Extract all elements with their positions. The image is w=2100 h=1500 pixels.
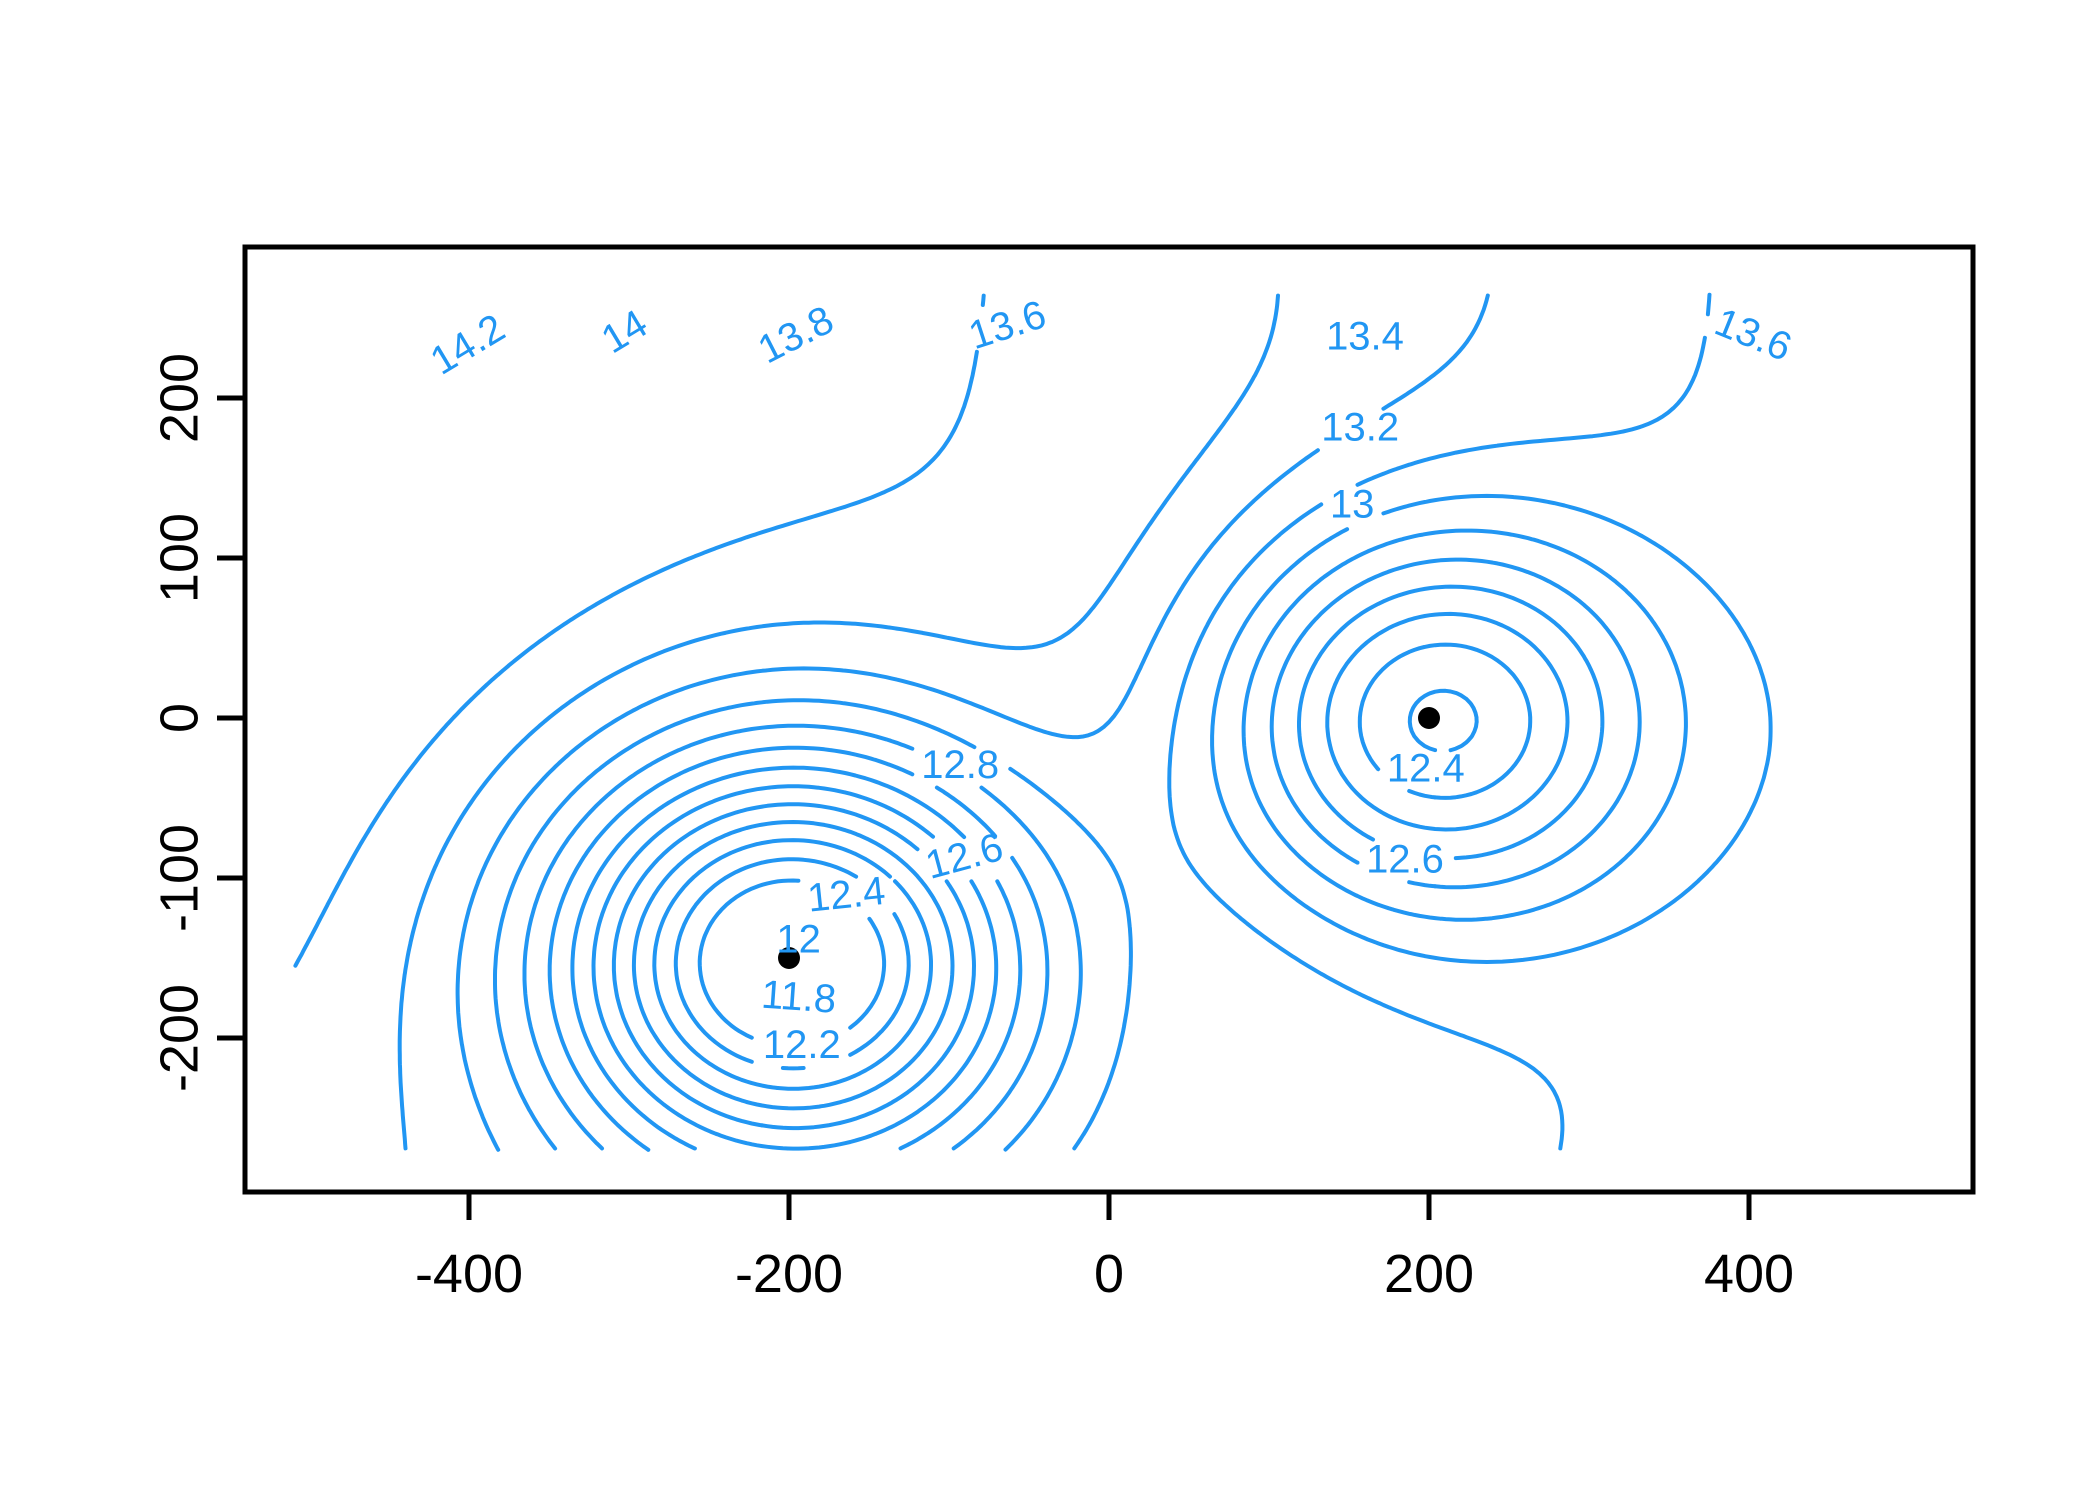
y-axis-tick-label: -200	[149, 984, 209, 1092]
contour-level-label: 12.4	[805, 869, 887, 921]
y-axis-tick-label: 100	[149, 513, 209, 603]
x-axis-tick-label: 400	[1704, 1244, 1794, 1304]
contour-level-label: 12.4	[1387, 746, 1465, 790]
contour-level-label: 13	[1330, 482, 1375, 526]
contour-level-label: 11.8	[760, 973, 838, 1022]
y-axis-tick-label: 200	[149, 353, 209, 443]
x-axis-tick-label: -200	[735, 1244, 843, 1304]
contour-level-label: 12.8	[921, 743, 999, 787]
contour-line	[1708, 295, 1710, 315]
contour-level-label: 12	[776, 918, 821, 962]
x-axis-tick-label: -400	[415, 1244, 523, 1304]
contour-level-label: 12.6	[1366, 838, 1444, 882]
contour-plot-figure: -400-2000200400 2001000-100-200 14.21413…	[0, 0, 2100, 1500]
minimum-marker	[1418, 707, 1440, 729]
x-axis-tick-label: 200	[1384, 1244, 1474, 1304]
y-axis-tick-label: -100	[149, 824, 209, 932]
contour-line	[983, 296, 984, 305]
contour-level-label: 13.4	[1326, 314, 1404, 358]
contour-level-label: 13.2	[1321, 406, 1399, 450]
x-axis-tick-label: 0	[1094, 1244, 1124, 1304]
y-axis-tick-label: 0	[149, 703, 209, 733]
plot-canvas: -400-2000200400 2001000-100-200 14.21413…	[0, 0, 2100, 1500]
contour-level-label: 12.2	[763, 1023, 841, 1067]
